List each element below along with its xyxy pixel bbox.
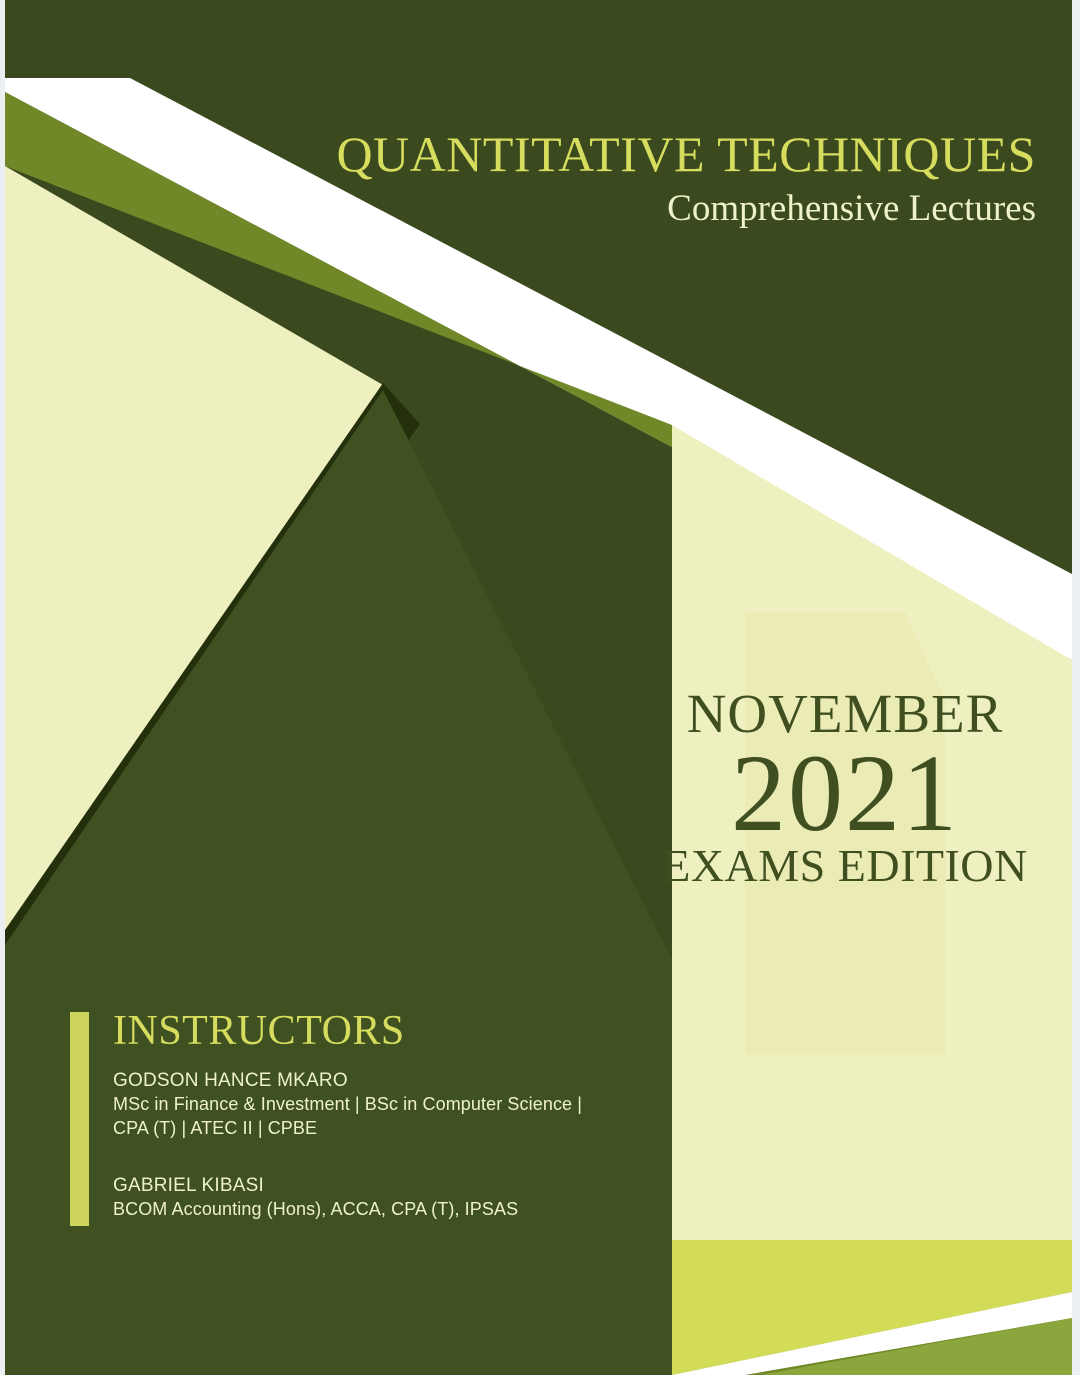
instructors-heading: INSTRUCTORS bbox=[113, 1008, 673, 1055]
page-border-left bbox=[0, 0, 5, 1375]
instructors-body: INSTRUCTORS GODSON HANCE MKARO MSc in Fi… bbox=[113, 1008, 673, 1222]
page-title: QUANTITATIVE TECHNIQUES bbox=[276, 128, 1036, 181]
edition-year: 2021 bbox=[650, 737, 1040, 849]
page-subtitle: Comprehensive Lectures bbox=[276, 187, 1036, 231]
cover-title-block: QUANTITATIVE TECHNIQUES Comprehensive Le… bbox=[276, 128, 1036, 231]
instructor-entry: GODSON HANCE MKARO MSc in Finance & Inve… bbox=[113, 1069, 673, 1140]
instructor-entry: GABRIEL KIBASI BCOM Accounting (Hons), A… bbox=[113, 1174, 673, 1222]
instructor-name: GABRIEL KIBASI bbox=[113, 1174, 673, 1198]
edition-tagline: EXAMS EDITION bbox=[650, 843, 1040, 889]
page-border-right bbox=[1072, 0, 1080, 1375]
book-cover-page: QUANTITATIVE TECHNIQUES Comprehensive Le… bbox=[0, 0, 1080, 1375]
instructors-accent-bar bbox=[70, 1012, 89, 1226]
instructor-credentials: MSc in Finance & Investment | BSc in Com… bbox=[113, 1093, 673, 1140]
instructor-credentials: BCOM Accounting (Hons), ACCA, CPA (T), I… bbox=[113, 1198, 673, 1221]
instructor-name: GODSON HANCE MKARO bbox=[113, 1069, 673, 1093]
edition-block: NOVEMBER 2021 EXAMS EDITION bbox=[650, 686, 1040, 889]
